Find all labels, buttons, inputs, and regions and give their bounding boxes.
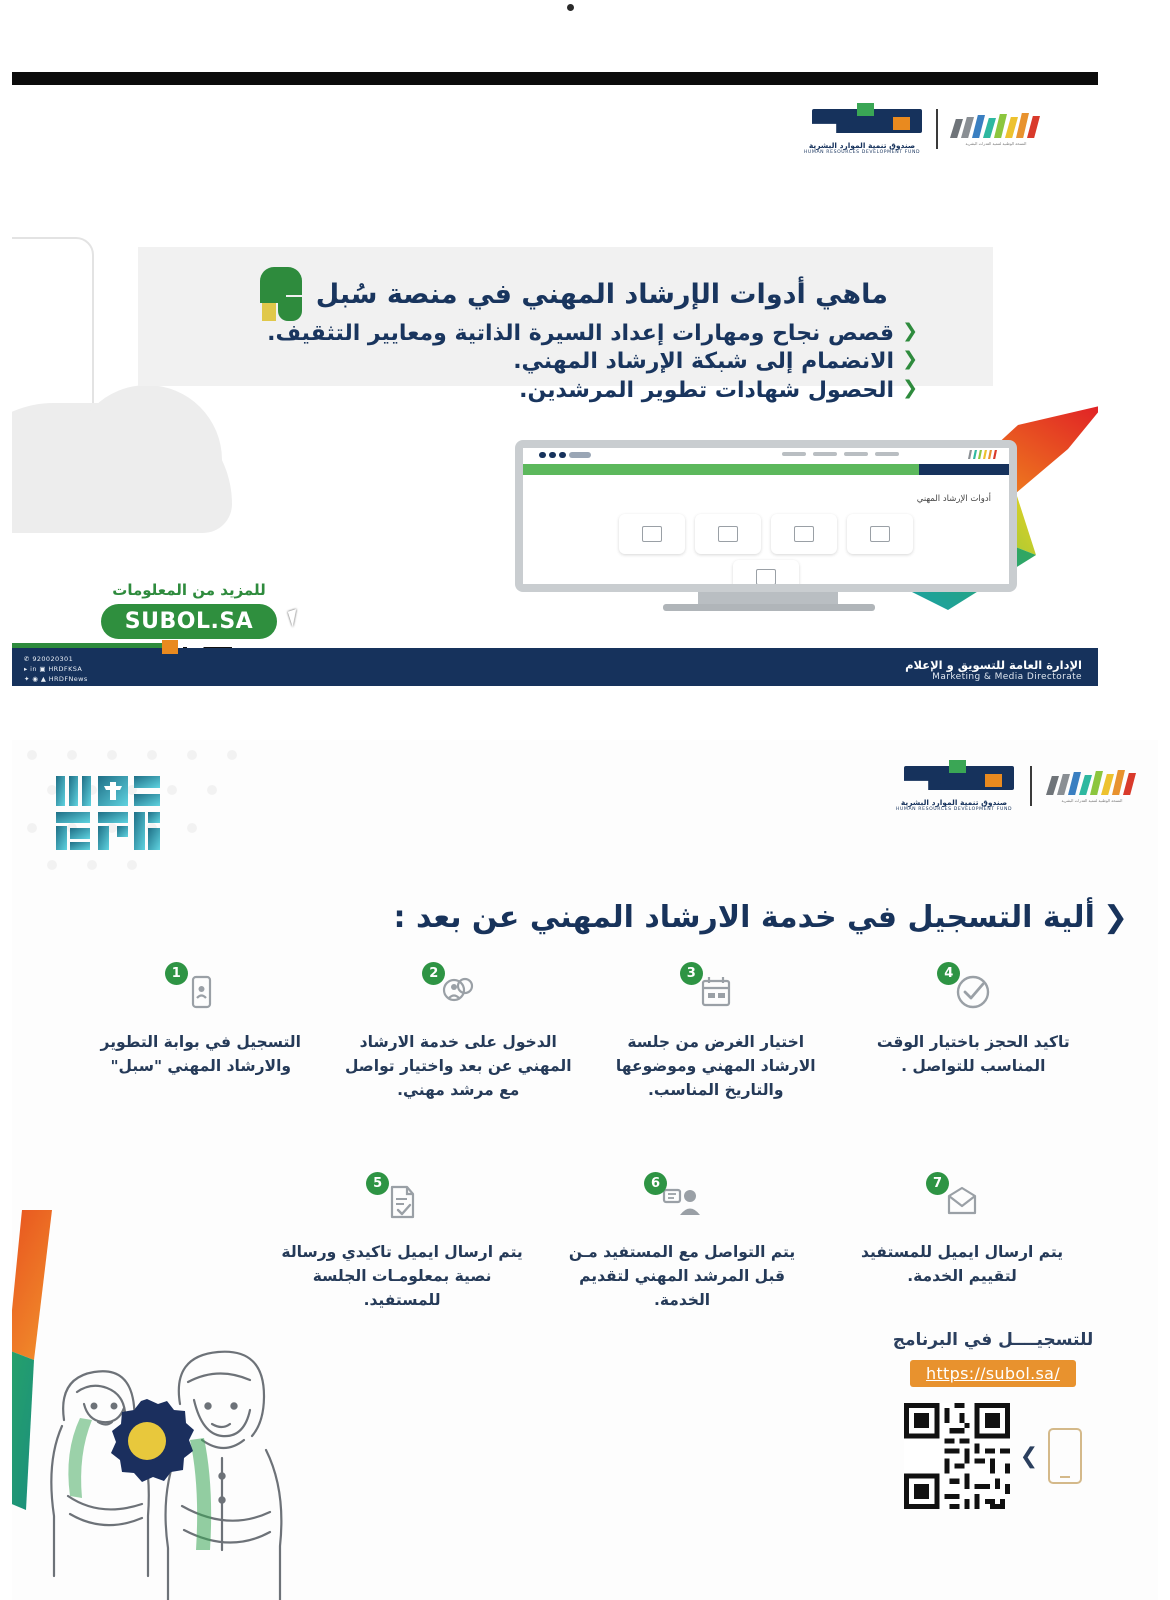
slide-1-top-bar: [12, 72, 1098, 85]
footer-phone: 920020301: [32, 655, 73, 663]
step-number-badge: 3: [680, 962, 703, 985]
step-icon-wrap: 6: [660, 1182, 704, 1226]
steps-row-bottom: 7 يتم ارسال ايميل للمستفيد لتقييم الخدمة…: [262, 1182, 1102, 1312]
step-text: الدخول على خدمة الارشاد المهني عن بعد وا…: [344, 1030, 574, 1102]
social-icons: ▸ in ▣: [24, 665, 48, 673]
bullet-text: الحصول شهادات تطوير المرشدين.: [519, 378, 894, 404]
footer-accent-orange: [162, 640, 178, 654]
slide-2: النسخة الوطنية لتنمية القدرات البشرية صن…: [12, 740, 1158, 1600]
step-icon-wrap: 2: [438, 972, 478, 1016]
logo-divider-icon: [936, 109, 938, 149]
success-icon: [642, 526, 662, 542]
partner-logo: النسخة الوطنية لتنمية القدرات البشرية: [1048, 769, 1136, 803]
partner-logo-caption: النسخة الوطنية لتنمية القدرات البشرية: [966, 141, 1027, 146]
guidance-icon: [756, 569, 776, 584]
site-logo-icon: [968, 450, 997, 459]
tool-card[interactable]: [733, 560, 799, 584]
step-icon-wrap: 7: [942, 1182, 982, 1226]
site-menu-links[interactable]: [782, 452, 899, 456]
step-icon-wrap: 3: [696, 972, 736, 1016]
user-chat-icon: [660, 1182, 704, 1222]
step-number-badge: 6: [644, 1172, 667, 1195]
step-icon-wrap: 4: [953, 972, 993, 1016]
tool-card[interactable]: [619, 514, 685, 554]
hrdf-logo: صندوق تنمية الموارد البشرية HUMAN RESOUR…: [802, 103, 922, 155]
step-number-badge: 7: [926, 1172, 949, 1195]
hrdf-wordmark-icon: [894, 760, 1014, 796]
qr-code-icon: [904, 1403, 1010, 1509]
chevron-left-icon: ❮: [902, 349, 918, 371]
footer-news-handle: HRDFNews: [49, 675, 88, 683]
slide-1-footer: ✆ 920020301 ▸ in ▣ HRDFKSA ✦ ◉ ▲ HRDFNew…: [12, 648, 1098, 698]
spa-logo-icon: [54, 772, 164, 854]
step-item: 1 التسجيل في بوابة التطوير والارشاد المه…: [72, 972, 330, 1102]
tool-card[interactable]: [847, 514, 913, 554]
step-item: 2 الدخول على خدمة الارشاد المهني عن بعد …: [330, 972, 588, 1102]
twitter-icon: ✦ ◉ ▲: [24, 675, 49, 683]
logo-divider-icon: [1030, 766, 1032, 806]
chevron-left-icon: ❮: [1020, 1444, 1038, 1469]
hrdf-name-en: HUMAN RESOURCES DEVELOPMENT FUND: [804, 150, 920, 155]
registration-label: للتسجيــــل في البرنامج: [868, 1330, 1118, 1350]
partner-logo: النسخة الوطنية لتنمية القدرات البشرية: [952, 112, 1040, 146]
footer-department: الإدارة العامة للتسويق و الإعلام Marketi…: [905, 658, 1082, 682]
step-text: تاكيد الحجز باختيار الوقت المناسب للتواص…: [859, 1030, 1089, 1078]
registration-block: للتسجيــــل في البرنامج https://subol.sa…: [868, 1330, 1118, 1509]
hrdf-wordmark-icon: [802, 103, 922, 139]
hrdf-name-ar: صندوق تنمية الموارد البشرية: [809, 141, 915, 150]
subol-site-button-label: SUBOL.SA: [125, 609, 253, 634]
subol-site-button[interactable]: SUBOL.SA: [101, 604, 277, 639]
page-dot-marker: [567, 4, 574, 11]
slide-1: النسخة الوطنية لتنمية القدرات البشرية صن…: [12, 72, 1098, 714]
assessment-icon: [870, 526, 890, 542]
check-circle-icon: [953, 972, 993, 1012]
slide-1-title-row: ماهي أدوات الإرشاد المهني في منصة سُبل: [256, 267, 888, 321]
bullet-text: قصص نجاح ومهارات إعداد السيرة الذاتية وم…: [267, 321, 894, 347]
step-icon-wrap: 5: [382, 1182, 422, 1226]
step-item: 6 يتم التواصل مع المستفيد مـن قبل المرشد…: [542, 1182, 822, 1312]
step-text: يتم ارسال ايميل للمستفيد لتقييم الخدمة.: [836, 1240, 1088, 1288]
site-search-bar[interactable]: [919, 464, 1009, 475]
step-item: 4 تاكيد الحجز باختيار الوقت المناسب للتو…: [845, 972, 1103, 1102]
bullet-item: ❮ الحصول شهادات تطوير المرشدين.: [267, 378, 918, 404]
footer-department-en: Marketing & Media Directorate: [905, 672, 1082, 682]
hrdf-name-en: HUMAN RESOURCES DEVELOPMENT FUND: [896, 807, 1012, 812]
slide-1-bullet-list: ❮ قصص نجاح ومهارات إعداد السيرة الذاتية …: [267, 321, 918, 406]
step-number-badge: 1: [165, 962, 188, 985]
step-text: يتم التواصل مع المستفيد مـن قبل المرشد ا…: [556, 1240, 808, 1312]
registration-url-button[interactable]: https://subol.sa/: [910, 1360, 1076, 1387]
chevron-left-icon: ❮: [1103, 900, 1128, 935]
bullet-text: الانضمام إلى شبكة الإرشاد المهني.: [513, 349, 894, 375]
slides-page: النسخة الوطنية لتنمية القدرات البشرية صن…: [0, 0, 1170, 1600]
footer-phone-row: ✆ 920020301: [24, 654, 88, 664]
chevron-logo-icon: [952, 112, 1040, 138]
step-text: التسجيل في بوابة التطوير والارشاد المهني…: [86, 1030, 316, 1078]
decorative-cloud-shape-2: [72, 385, 222, 495]
chevron-left-icon: ❮: [902, 321, 918, 343]
browse-service-icon: [438, 972, 478, 1012]
skills-icon: [794, 526, 814, 542]
footer-news-row: ✦ ◉ ▲ HRDFNews: [24, 674, 88, 684]
tool-card[interactable]: [771, 514, 837, 554]
site-account-controls[interactable]: [539, 452, 591, 458]
mobile-phone-icon: [1048, 1428, 1082, 1484]
step-item: 3 اختيار الغرض من جلسة الارشاد المهني وم…: [587, 972, 845, 1102]
laptop-screen: أدوات الإرشاد المهني: [523, 448, 1009, 584]
footer-social-row: ▸ in ▣ HRDFKSA: [24, 664, 88, 674]
hrdf-name-ar: صندوق تنمية الموارد البشرية: [901, 798, 1007, 807]
footer-bottom-strip: [12, 686, 1098, 698]
laptop-bezel: أدوات الإرشاد المهني: [515, 440, 1017, 592]
slide-2-title: ألية التسجيل في خدمة الارشاد المهني عن ب…: [394, 900, 1095, 935]
bullet-item: ❮ قصص نجاح ومهارات إعداد السيرة الذاتية …: [267, 321, 918, 347]
tool-card[interactable]: [695, 514, 761, 554]
footer-social-handle: HRDFKSA: [48, 665, 82, 673]
bullet-item: ❮ الانضمام إلى شبكة الإرشاد المهني.: [267, 349, 918, 375]
slide-2-header-logos: النسخة الوطنية لتنمية القدرات البشرية صن…: [894, 760, 1136, 812]
chevron-logo-icon: [1048, 769, 1136, 795]
steps-row-top: 4 تاكيد الحجز باختيار الوقت المناسب للتو…: [72, 972, 1102, 1102]
cv-icon: [718, 526, 738, 542]
step-icon-wrap: 1: [181, 972, 221, 1016]
step-item: 5 يتم ارسال ايميل تاكيدي ورسالة نصية بمع…: [262, 1182, 542, 1312]
hrdf-logo: صندوق تنمية الموارد البشرية HUMAN RESOUR…: [894, 760, 1014, 812]
saudi-man-woman-gear-illustration: [22, 1300, 322, 1600]
footer-accent-green: [12, 643, 162, 648]
slide-1-body: النسخة الوطنية لتنمية القدرات البشرية صن…: [12, 85, 1098, 698]
laptop-stand: [698, 592, 838, 604]
slide-1-header-logos: النسخة الوطنية لتنمية القدرات البشرية صن…: [802, 103, 1040, 155]
laptop-base: [663, 604, 875, 611]
laptop-mockup: أدوات الإرشاد المهني: [515, 440, 1027, 625]
more-info-label: للمزيد من المعلومات: [74, 581, 304, 599]
step-number-badge: 5: [366, 1172, 389, 1195]
slide-2-title-row: ❮ ألية التسجيل في خدمة الارشاد المهني عن…: [394, 900, 1129, 935]
chevron-left-icon: ❮: [902, 378, 918, 400]
step-text: اختيار الغرض من جلسة الارشاد المهني وموض…: [601, 1030, 831, 1102]
registration-qr-row: ❮: [868, 1403, 1118, 1509]
footer-department-ar: الإدارة العامة للتسويق و الإعلام: [905, 658, 1082, 672]
site-tool-cards: [523, 514, 1009, 554]
slide-1-title: ماهي أدوات الإرشاد المهني في منصة سُبل: [316, 279, 888, 310]
partner-logo-caption: النسخة الوطنية لتنمية القدرات البشرية: [1062, 798, 1123, 803]
subol-logo-icon: [256, 267, 306, 321]
site-section-heading: أدوات الإرشاد المهني: [917, 494, 991, 504]
mouse-cursor-icon: [288, 609, 302, 627]
step-item: 7 يتم ارسال ايميل للمستفيد لتقييم الخدمة…: [822, 1182, 1102, 1312]
site-top-nav: [523, 448, 1009, 464]
